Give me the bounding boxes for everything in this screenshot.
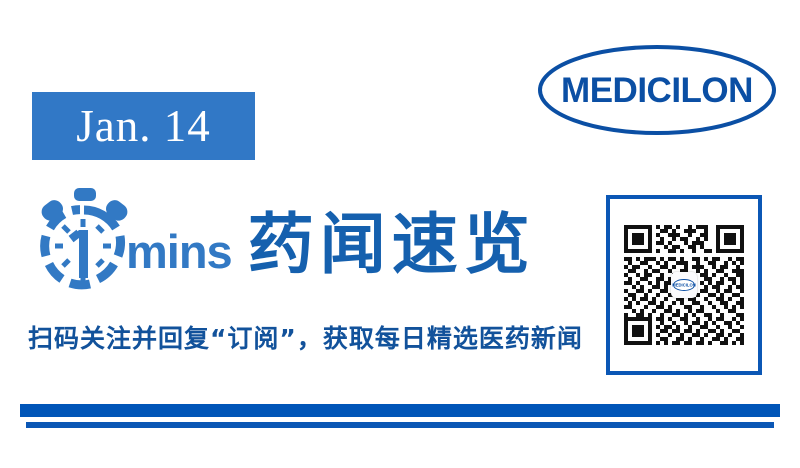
qr-center-logo: MEDICILON bbox=[671, 272, 697, 298]
qr-matrix: MEDICILON bbox=[620, 209, 748, 361]
poster-canvas: Jan. 14 MEDICILON bbox=[0, 0, 800, 468]
footer-rule-thin bbox=[26, 422, 774, 428]
subtitle-text: 扫码关注并回复“订阅”，获取每日精选医药新闻 bbox=[28, 324, 583, 354]
masthead-title: 药闻速览 bbox=[248, 212, 536, 278]
footer-rule-thick bbox=[20, 404, 780, 417]
qr-code[interactable]: MEDICILON bbox=[606, 195, 762, 375]
date-label: Jan. 14 bbox=[76, 104, 211, 149]
qr-center-logo-text: MEDICILON bbox=[672, 283, 696, 288]
masthead-lockup: mins 药闻速览 bbox=[30, 186, 536, 298]
logo-wordmark-text: MEDICILON bbox=[561, 71, 753, 110]
mins-label: mins bbox=[126, 228, 232, 275]
medicilon-logo: MEDICILON bbox=[536, 44, 778, 136]
stopwatch-icon bbox=[30, 186, 138, 298]
date-banner: Jan. 14 bbox=[32, 92, 255, 160]
